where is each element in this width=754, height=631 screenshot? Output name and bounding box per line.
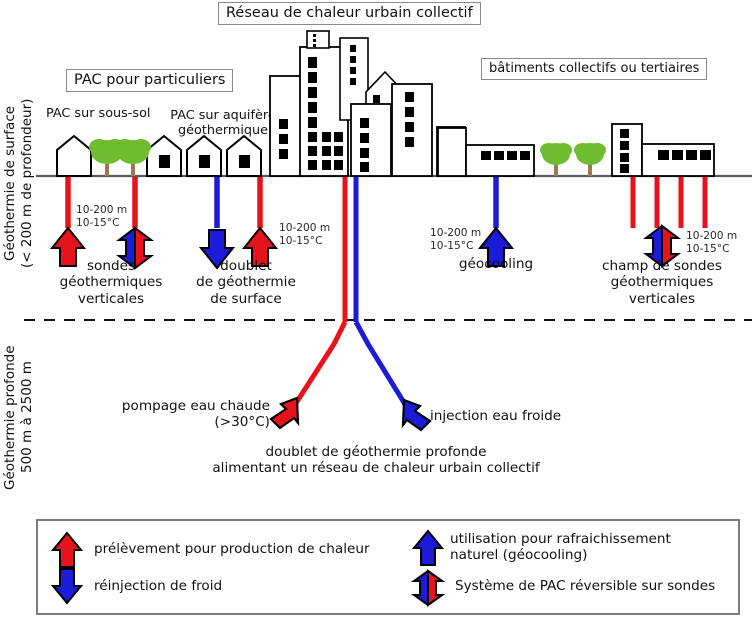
depth-note-3-line2: 10-15°C xyxy=(430,240,473,252)
depth-note-1: 10-200 m 10-15°C xyxy=(76,204,127,230)
building-rooftop-box xyxy=(307,31,329,48)
building-geocooling-wide xyxy=(466,145,534,176)
depth-note-2: 10-200 m 10-15°C xyxy=(279,222,330,248)
tree-2 xyxy=(115,139,151,176)
caption-doublet-line1: doublet xyxy=(220,258,272,274)
depth-note-2-line2: 10-15°C xyxy=(279,235,322,247)
depth-note-1-line1: 10-200 m xyxy=(76,204,127,216)
caption-doublet-profond-line2: alimentant un réseau de chaleur urbain c… xyxy=(212,460,539,476)
caption-sondes-line3: verticales xyxy=(78,291,144,307)
caption-champ-line3: verticales xyxy=(629,291,695,307)
building-right-tall xyxy=(392,84,432,176)
caption-sondes-verticales: sondes géothermiques verticales xyxy=(46,258,176,307)
depth-note-1-line2: 10-15°C xyxy=(76,217,119,229)
depth-note-4: 10-200 m 10-15°C xyxy=(686,230,737,256)
legend-reversible-pac-icon xyxy=(414,571,442,605)
legend-arrow-up-hot-icon xyxy=(53,533,81,567)
annotation-pompage-line2: (>30°C) xyxy=(214,414,270,430)
depth-note-3: 10-200 m 10-15°C xyxy=(430,227,481,253)
legend-item-3-line1: utilisation pour rafraichissement xyxy=(450,531,671,547)
arrow-pompage-eau-chaude xyxy=(271,398,298,428)
deep-pipe-cold xyxy=(356,322,411,414)
caption-geocooling: géocooling xyxy=(436,256,556,272)
building-geocooling-tall xyxy=(438,128,466,176)
annotation-pompage-line1: pompage eau chaude xyxy=(122,398,270,414)
caption-doublet-line2: de géothermie xyxy=(196,274,296,290)
arrow-injection-eau-froide xyxy=(403,400,430,430)
caption-champ-line1: champ de sondes xyxy=(602,258,722,274)
legend-arrow-down-cold-icon xyxy=(53,569,81,603)
legend-arrow-up-cold-icon xyxy=(414,531,442,565)
building-probefield-wide xyxy=(642,144,714,176)
caption-champ-de-sondes: champ de sondes géothermiques verticales xyxy=(588,258,736,307)
depth-note-4-line1: 10-200 m xyxy=(686,230,737,242)
caption-doublet-surface: doublet de géothermie de surface xyxy=(186,258,306,307)
annotation-injection-eau-froide: injection eau froide xyxy=(430,408,561,424)
legend-item-2-label: réinjection de froid xyxy=(94,578,222,594)
caption-sondes-line1: sondes xyxy=(87,258,135,274)
house-2 xyxy=(147,136,181,176)
legend-item-1-label: prélèvement pour production de chaleur xyxy=(94,541,370,557)
legend-item-4-label: Système de PAC réversible sur sondes xyxy=(455,578,715,594)
tree-4 xyxy=(574,143,606,176)
depth-note-3-line1: 10-200 m xyxy=(430,227,481,239)
caption-geocooling-text: géocooling xyxy=(459,256,533,272)
caption-doublet-profond: doublet de géothermie profonde alimentan… xyxy=(158,444,594,477)
depth-note-2-line1: 10-200 m xyxy=(279,222,330,234)
caption-champ-line2: géothermiques xyxy=(611,274,714,290)
building-mid-block xyxy=(351,104,391,176)
caption-sondes-line2: géothermiques xyxy=(60,274,163,290)
caption-doublet-line3: de surface xyxy=(210,291,282,307)
house-3 xyxy=(187,136,221,176)
house-4 xyxy=(227,136,261,176)
annotation-pompage-eau-chaude: pompage eau chaude (>30°C) xyxy=(98,398,270,431)
legend-item-3-label: utilisation pour rafraichissement nature… xyxy=(450,531,671,564)
building-probefield-tall xyxy=(612,124,642,176)
house-1 xyxy=(57,136,91,176)
tree-3 xyxy=(540,143,572,176)
depth-note-4-line2: 10-15°C xyxy=(686,243,729,255)
caption-doublet-profond-line1: doublet de géothermie profonde xyxy=(266,444,487,460)
legend-item-3-line2: naturel (géocooling) xyxy=(450,547,587,563)
